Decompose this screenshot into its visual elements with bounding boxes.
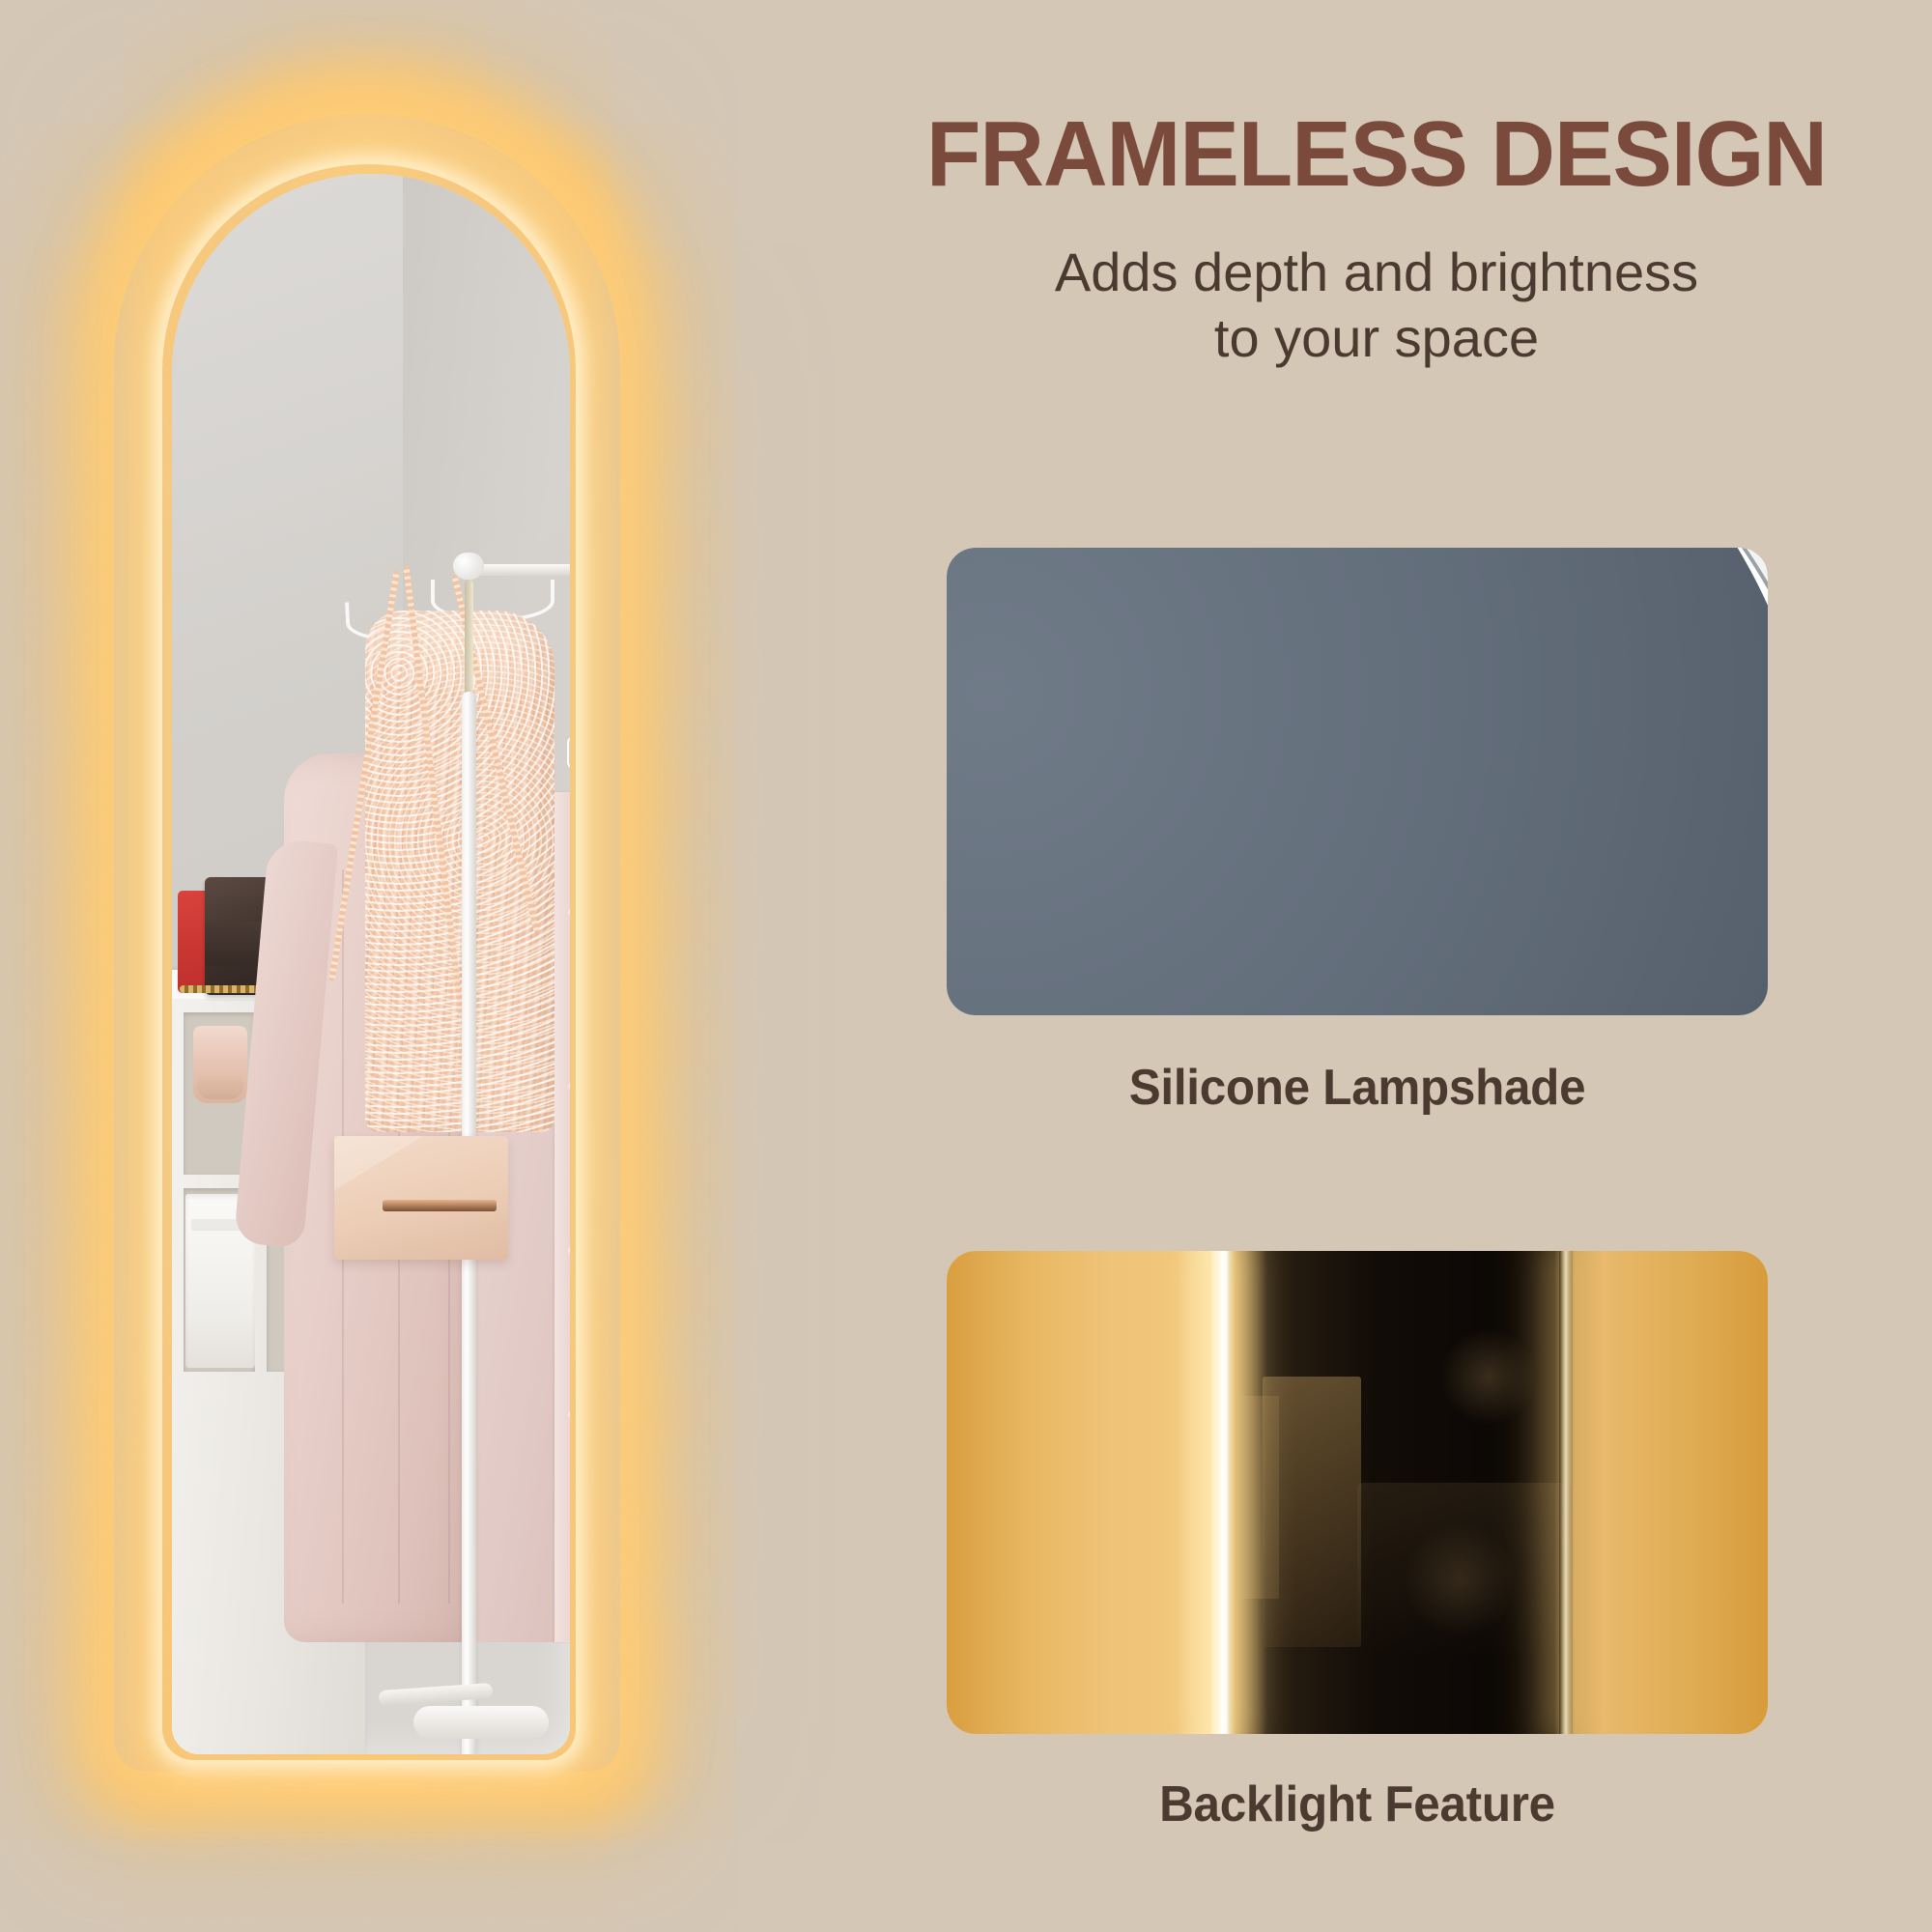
subtitle-line-2: to your space xyxy=(850,305,1903,371)
backlight-feature-photo xyxy=(947,1251,1768,1734)
subtitle: Adds depth and brightness to your space xyxy=(850,240,1903,372)
reflected-object xyxy=(1406,1521,1514,1637)
caption-silicone-lampshade: Silicone Lampshade xyxy=(967,1059,1747,1117)
mirror-glass xyxy=(172,174,570,1754)
reflected-highlight xyxy=(1439,1328,1538,1425)
feature-card-backlight xyxy=(947,1251,1768,1734)
shirt-placket xyxy=(554,792,570,1642)
backlight-led-edge-right xyxy=(1559,1251,1573,1734)
blush-clutch xyxy=(334,1136,508,1260)
mirror-reflection-scene xyxy=(172,174,570,1754)
right-content-column: FRAMELESS DESIGN Adds depth and brightne… xyxy=(850,0,1932,1932)
silicone-lampshade-photo xyxy=(947,548,1768,1015)
page-title: FRAMELESS DESIGN xyxy=(853,108,1901,201)
sequin-garment xyxy=(365,611,554,1132)
feature-card-silicone-lampshade xyxy=(947,548,1768,1015)
caption-backlight-feature: Backlight Feature xyxy=(967,1776,1747,1833)
rolled-towels xyxy=(193,1026,247,1103)
product-feature-image: FRAMELESS DESIGN Adds depth and brightne… xyxy=(0,0,1932,1932)
backlight-led-strip xyxy=(1211,1251,1231,1734)
clutch-bar-hardware xyxy=(383,1200,497,1211)
rack-base xyxy=(413,1706,549,1739)
subtitle-line-1: Adds depth and brightness xyxy=(850,240,1903,305)
reflected-doorframe xyxy=(1263,1377,1361,1647)
power-button-icon[interactable] xyxy=(567,736,570,769)
silicone-highlight-ring xyxy=(947,548,1768,1015)
rack-knob xyxy=(453,553,484,580)
hero-mirror-photo xyxy=(0,0,850,1932)
